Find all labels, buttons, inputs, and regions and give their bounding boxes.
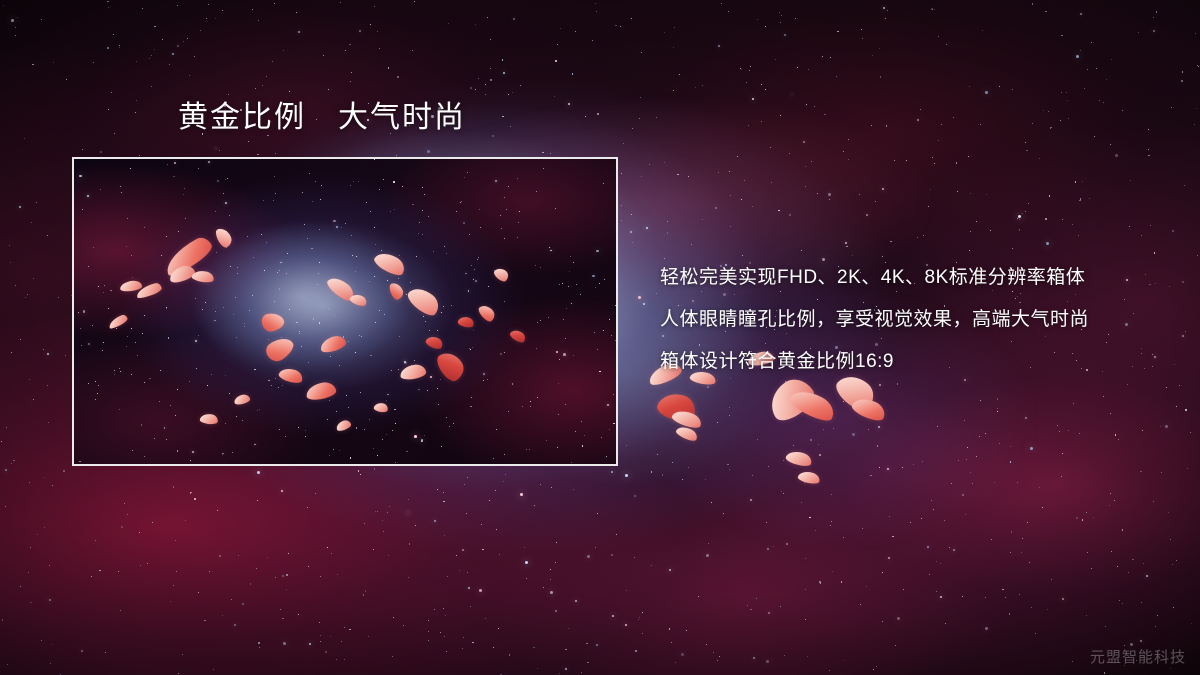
page-title: 黄金比例 大气时尚 <box>178 101 466 134</box>
preview-star-field <box>74 159 616 464</box>
body-text-block: 轻松完美实现FHD、2K、4K、8K标准分辨率箱体 人体眼睛瞳孔比例，享受视觉效… <box>660 257 1089 383</box>
petal <box>785 449 814 469</box>
preview-nebula-image <box>74 159 616 464</box>
body-line-1: 轻松完美实现FHD、2K、4K、8K标准分辨率箱体 <box>660 257 1089 299</box>
body-line-2: 人体眼睛瞳孔比例，享受视觉效果，高端大气时尚 <box>660 299 1089 341</box>
watermark: 元盟智能科技 <box>1090 646 1186 667</box>
slide-canvas: 黄金比例 大气时尚 轻松完美实现FHD、2K、4K、8K标准分辨率箱体 人体眼睛… <box>0 0 1200 675</box>
body-line-3: 箱体设计符合黄金比例16:9 <box>660 341 1089 383</box>
preview-image-frame <box>72 157 618 466</box>
petal <box>797 470 821 486</box>
